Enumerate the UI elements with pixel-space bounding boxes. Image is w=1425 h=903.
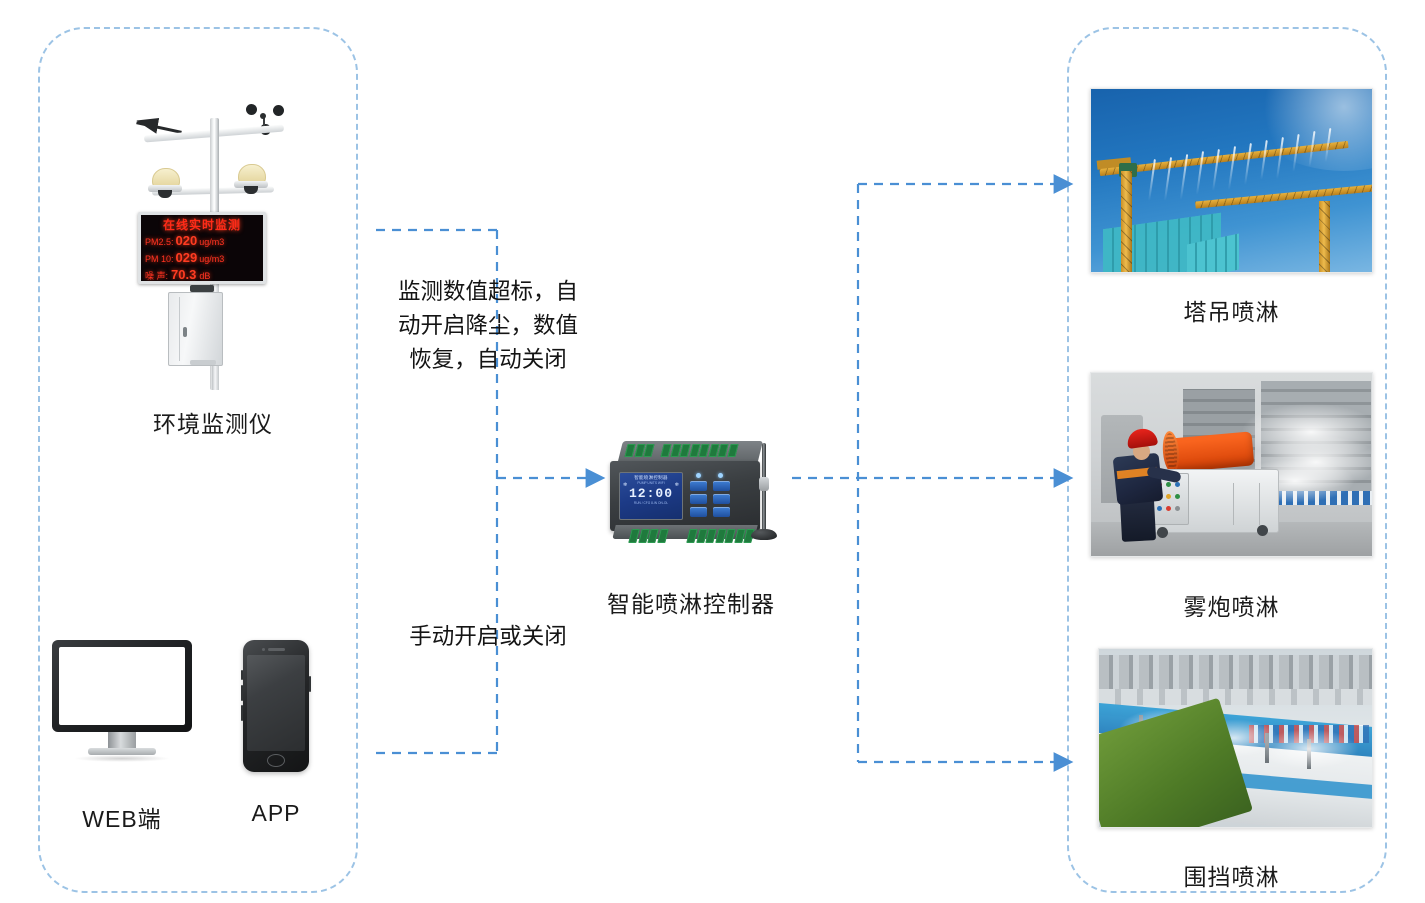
auto-line-1: 监测数值超标，自 xyxy=(368,275,608,309)
web-client-caption: WEB端 xyxy=(52,800,192,834)
lcd-footer: RUN / CFG 8-IN ON-OL xyxy=(620,501,682,506)
led-row-noise: 噪 声: 70.3 dB xyxy=(145,267,259,284)
control-cabinet xyxy=(168,292,223,366)
web-client-monitor xyxy=(52,640,192,765)
led-row-pm25: PM2.5: 020 ug/m3 xyxy=(145,233,259,250)
fog-cannon-spray-photo xyxy=(1090,372,1373,557)
auto-line-2: 动开启降尘，数值 xyxy=(368,309,608,343)
controller-status-led-1 xyxy=(696,473,701,478)
cabinet-lock-icon xyxy=(183,327,187,337)
controller-lcd-screen: ❄ ❄ 智能喷淋控制器 PUMP UNITS WIFI 12:00 RUN / … xyxy=(619,472,683,520)
led-pm10-label: PM 10: xyxy=(145,251,174,267)
spray-controller-caption: 智能喷淋控制器 xyxy=(566,585,816,619)
radiation-shield-left-icon xyxy=(148,168,182,198)
controller-button-mode[interactable] xyxy=(713,494,730,504)
led-pm10-unit: ug/m3 xyxy=(199,251,224,267)
led-display-board: 在线实时监测 PM2.5: 020 ug/m3 PM 10: 029 ug/m3… xyxy=(138,212,266,284)
controller-button-down[interactable] xyxy=(690,507,707,517)
fog-cannon-spray-caption: 雾炮喷淋 xyxy=(1090,588,1373,622)
environment-monitor-device: 在线实时监测 PM2.5: 020 ug/m3 PM 10: 029 ug/m3… xyxy=(118,60,308,390)
lcd-time: 12:00 xyxy=(620,486,682,501)
mast-foot xyxy=(190,360,216,365)
monitor-screen xyxy=(59,647,185,725)
led-noise-label: 噪 声: xyxy=(145,268,168,284)
radiation-shield-right-icon xyxy=(234,164,268,194)
led-pm25-label: PM2.5: xyxy=(145,234,174,250)
spray-controller-device: ❄ ❄ 智能喷淋控制器 PUMP UNITS WIFI 12:00 RUN / … xyxy=(596,425,786,555)
led-noise-value: 70.3 xyxy=(171,267,196,283)
controller-button-column-right[interactable] xyxy=(713,481,730,517)
controller-button-set[interactable] xyxy=(690,481,707,491)
environment-monitor-caption: 环境监测仪 xyxy=(118,405,308,439)
controller-status-led-2 xyxy=(718,473,723,478)
diagram-canvas: 在线实时监测 PM2.5: 020 ug/m3 PM 10: 029 ug/m3… xyxy=(0,0,1425,903)
led-board-bracket xyxy=(190,285,214,292)
led-pm25-unit: ug/m3 xyxy=(199,234,224,250)
controller-button-column-left[interactable] xyxy=(690,481,707,517)
app-client-smartphone xyxy=(243,640,309,772)
tower-crane-spray-photo xyxy=(1090,88,1373,273)
controller-button-up[interactable] xyxy=(690,494,707,504)
led-noise-unit: dB xyxy=(199,268,210,284)
led-row-pm10: PM 10: 029 ug/m3 xyxy=(145,250,259,267)
fence-spray-caption: 围挡喷淋 xyxy=(1090,858,1373,892)
phone-home-button-icon xyxy=(267,754,285,767)
auto-mode-annotation: 监测数值超标，自 动开启降尘，数值 恢复，自动关闭 xyxy=(368,275,608,377)
controller-button-confirm[interactable] xyxy=(713,481,730,491)
auto-line-3: 恢复，自动关闭 xyxy=(368,343,608,377)
led-pm10-value: 029 xyxy=(176,250,198,266)
led-title: 在线实时监测 xyxy=(145,218,259,233)
tower-crane-spray-caption: 塔吊喷淋 xyxy=(1090,293,1373,327)
manual-mode-annotation: 手动开启或关闭 xyxy=(368,620,608,654)
app-client-caption: APP xyxy=(228,800,324,827)
phone-screen xyxy=(247,655,305,751)
antenna-magnetic-base xyxy=(751,529,777,540)
controller-button-output[interactable] xyxy=(713,507,730,517)
led-pm25-value: 020 xyxy=(176,233,198,249)
fence-spray-photo xyxy=(1098,648,1373,828)
